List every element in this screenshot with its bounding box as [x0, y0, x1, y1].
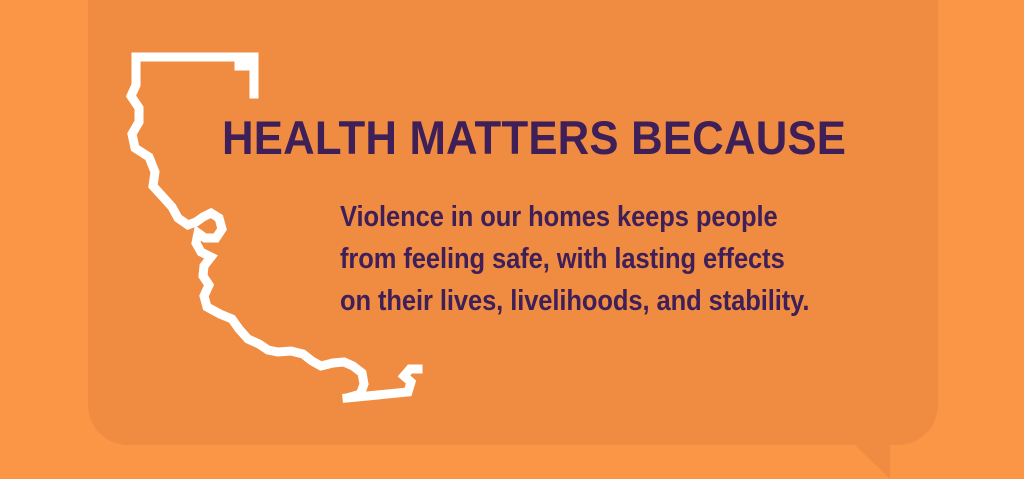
- body-line-1: Violence in our homes keeps people: [340, 196, 833, 238]
- body-copy: Violence in our homes keeps people from …: [340, 196, 833, 322]
- body-line-3: on their lives, livelihoods, and stabili…: [340, 280, 833, 322]
- body-line-2: from feeling safe, with lasting effects: [340, 238, 833, 280]
- infographic-card: HEALTH MATTERS BECAUSE Violence in our h…: [0, 0, 1024, 479]
- text-block: HEALTH MATTERS BECAUSE Violence in our h…: [0, 0, 1024, 479]
- page-title: HEALTH MATTERS BECAUSE: [222, 112, 873, 164]
